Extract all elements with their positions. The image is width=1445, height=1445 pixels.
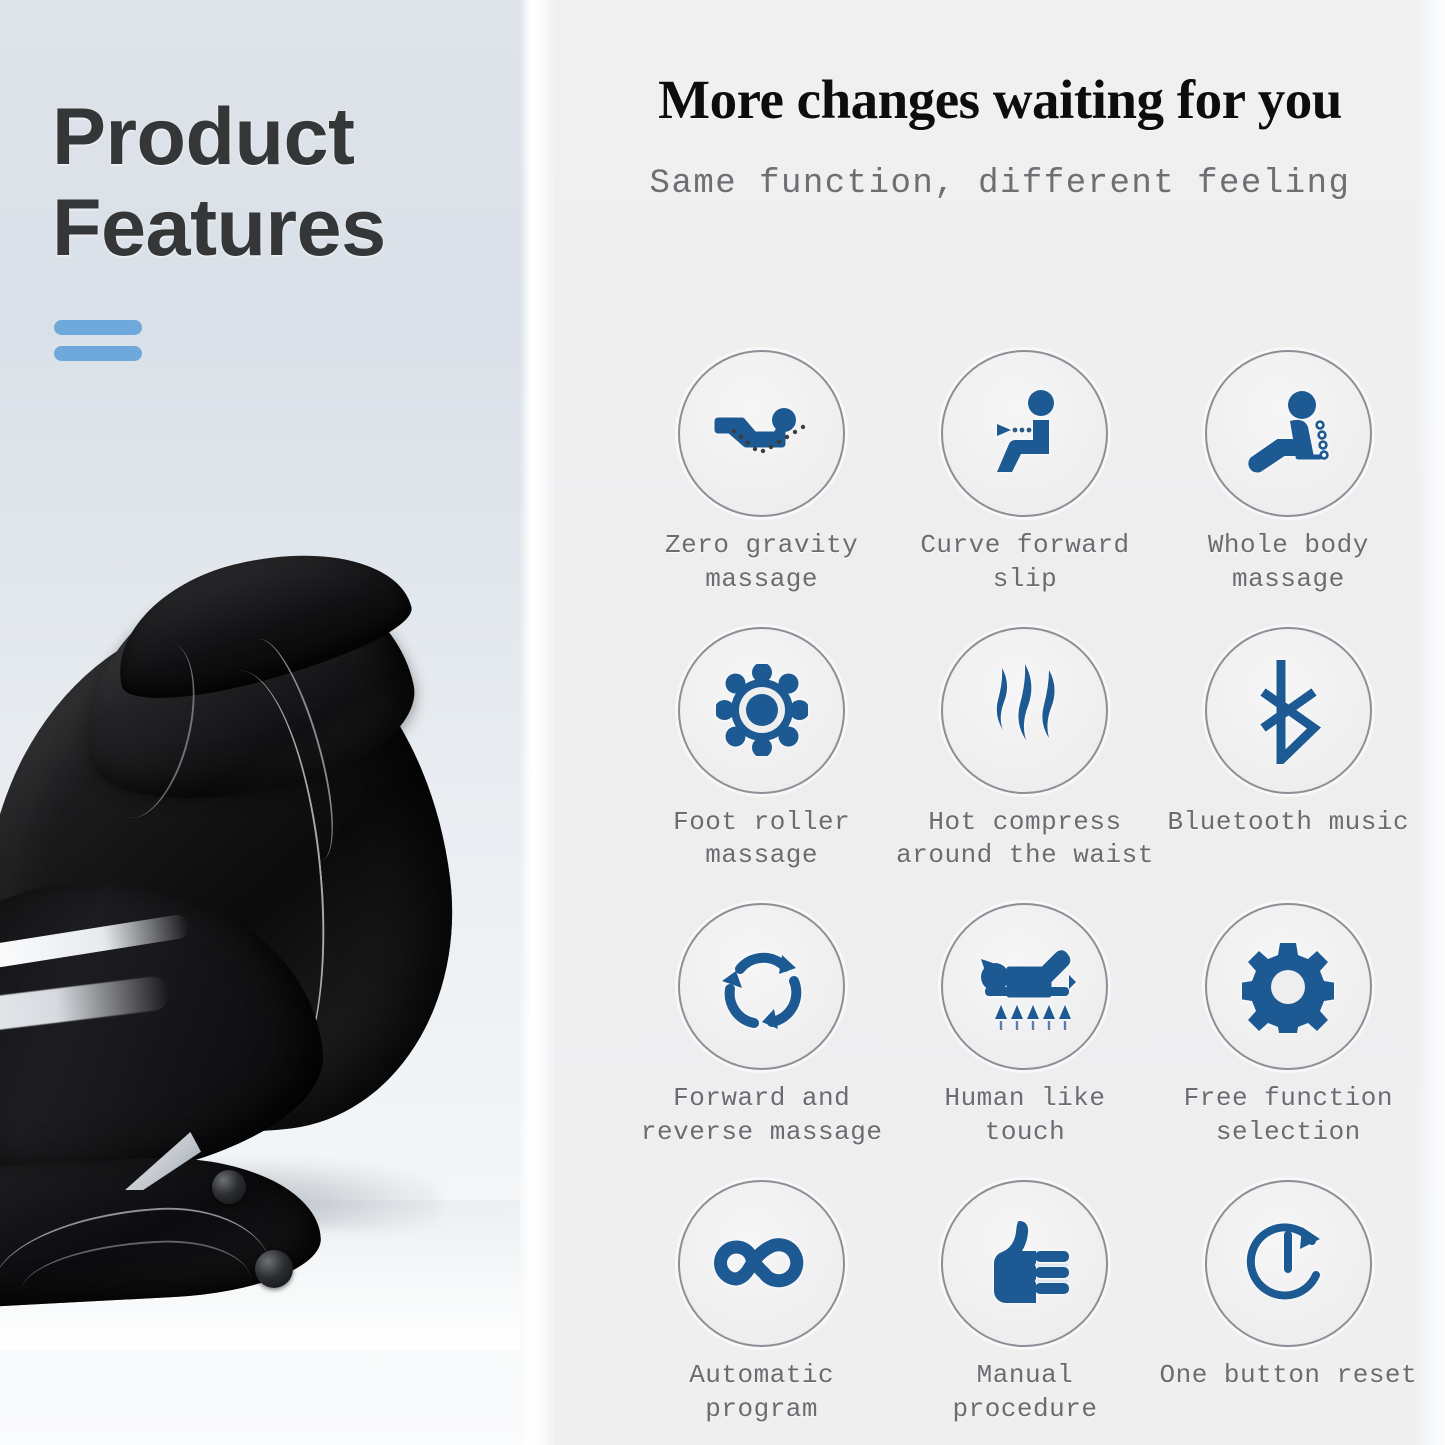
- left-panel: Product Features: [0, 0, 533, 1445]
- section-subheadline: Same function, different feeling: [555, 165, 1445, 203]
- massage-chair-photo: [0, 520, 520, 1350]
- whole-body-massage-icon: [1236, 391, 1340, 477]
- feature-label: Foot roller massage: [673, 806, 850, 874]
- feature-label: Hot compress around the waist: [896, 806, 1154, 874]
- feature-label: One button reset: [1160, 1359, 1418, 1393]
- right-panel: More changes waiting for you Same functi…: [555, 0, 1445, 1445]
- feature-item-manual-procedure: Manual procedure: [893, 1180, 1156, 1427]
- feature-label: Whole body massage: [1208, 529, 1369, 597]
- feature-label: Automatic program: [689, 1359, 834, 1427]
- chair-caster-wheel: [255, 1250, 293, 1288]
- feature-label: Forward and reverse massage: [641, 1082, 883, 1150]
- panel-divider: [533, 0, 555, 1445]
- feature-grid: Zero gravity massage: [630, 350, 1420, 1426]
- accent-bar-top: [54, 320, 142, 335]
- accent-bars: [54, 320, 142, 372]
- feature-label: Free function selection: [1184, 1082, 1393, 1150]
- infinity-icon: [708, 1229, 816, 1297]
- cyclic-rotation-arrows-icon: [712, 937, 812, 1037]
- feature-icon-circle: [941, 627, 1108, 794]
- page-title-line-2: Features: [52, 183, 502, 274]
- power-reset-icon: [1242, 1217, 1334, 1309]
- heat-waves-icon: [985, 662, 1065, 758]
- feature-item-bluetooth-music: Bluetooth music: [1157, 627, 1420, 874]
- feature-icon-circle: [678, 350, 845, 517]
- feature-item-curve-forward-slip: Curve forward slip: [893, 350, 1156, 597]
- feature-item-automatic-program: Automatic program: [630, 1180, 893, 1427]
- thumbs-up-icon: [977, 1217, 1073, 1309]
- zero-gravity-recline-icon: [712, 395, 812, 473]
- feature-icon-circle: [941, 350, 1108, 517]
- feature-item-whole-body-massage: Whole body massage: [1157, 350, 1420, 597]
- gear-icon: [1242, 941, 1334, 1033]
- section-headline: More changes waiting for you: [555, 68, 1445, 131]
- reclining-figure-airbags-icon: [969, 941, 1081, 1033]
- feature-item-human-like-touch: Human like touch: [893, 903, 1156, 1150]
- feature-icon-circle: [1205, 903, 1372, 1070]
- feature-label: Manual procedure: [953, 1359, 1098, 1427]
- feature-item-one-button-reset: One button reset: [1157, 1180, 1420, 1427]
- feature-icon-circle: [1205, 1180, 1372, 1347]
- feature-item-foot-roller-massage: Foot roller massage: [630, 627, 893, 874]
- accent-bar-bottom: [54, 346, 142, 361]
- feature-icon-circle: [941, 1180, 1108, 1347]
- feature-label: Human like touch: [944, 1082, 1105, 1150]
- right-edge-highlight: [1415, 0, 1445, 1445]
- page-title: Product Features: [52, 92, 502, 273]
- feature-label: Zero gravity massage: [665, 529, 858, 597]
- foot-roller-flower-icon: [716, 664, 808, 756]
- feature-icon-circle: [941, 903, 1108, 1070]
- feature-icon-circle: [1205, 350, 1372, 517]
- feature-item-forward-reverse-massage: Forward and reverse massage: [630, 903, 893, 1150]
- page-title-line-1: Product: [52, 92, 502, 183]
- curve-forward-slip-icon: [975, 388, 1075, 480]
- chair-caster-wheel: [212, 1170, 246, 1204]
- feature-item-free-function-selection: Free function selection: [1157, 903, 1420, 1150]
- feature-icon-circle: [678, 627, 845, 794]
- feature-icon-circle: [678, 1180, 845, 1347]
- bluetooth-icon: [1251, 656, 1325, 764]
- feature-label: Curve forward slip: [920, 529, 1129, 597]
- feature-item-hot-compress-around-waist: Hot compress around the waist: [893, 627, 1156, 874]
- feature-item-zero-gravity-massage: Zero gravity massage: [630, 350, 893, 597]
- feature-icon-circle: [1205, 627, 1372, 794]
- feature-label: Bluetooth music: [1168, 806, 1410, 840]
- product-features-infographic: Product Features: [0, 0, 1445, 1445]
- feature-icon-circle: [678, 903, 845, 1070]
